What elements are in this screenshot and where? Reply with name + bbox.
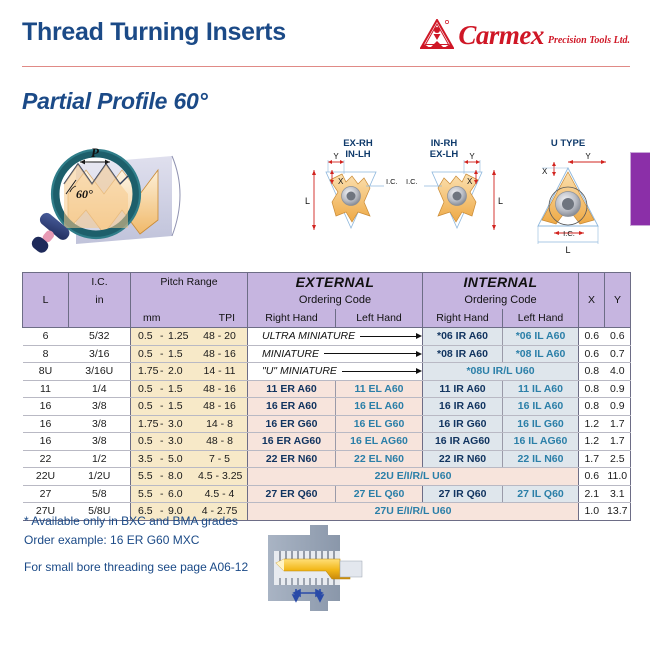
pitch-tpi-from: 48 xyxy=(206,435,218,447)
cell-x: 1.7 xyxy=(579,450,605,468)
u-type-label: U TYPE xyxy=(551,138,585,149)
cell-pitch-range: 3.5-5.07 - 5 xyxy=(131,450,248,468)
cell-pitch-range: 5.5-6.04.5 - 4 xyxy=(131,485,248,503)
cell-code-fullspan: 22U E/I/R/L U60 xyxy=(248,468,579,486)
cell-x: 0.8 xyxy=(579,398,605,416)
col-header-x: X xyxy=(579,273,605,328)
cell-x: 0.6 xyxy=(579,345,605,363)
insert-geometry-diagrams: EX-RH IN-LH Y X L I.C. IN-RH EX-LH xyxy=(292,132,630,262)
cell-internal-lh: *06 IL A60 xyxy=(503,328,579,346)
pitch-mm-label: mm xyxy=(143,312,161,324)
table-row: 8U3/16U1.75-2.014 - 11"U" MINIATURE*08U … xyxy=(23,363,631,381)
svg-text:Y: Y xyxy=(333,152,339,161)
pitch-mm-to: 3.0 xyxy=(168,418,198,430)
pitch-tpi-to: 11 xyxy=(225,365,236,377)
cell-l: 22U xyxy=(23,468,69,486)
cell-l: 11 xyxy=(23,380,69,398)
cell-y: 3.1 xyxy=(605,485,631,503)
cell-internal-rh: 27 IR Q60 xyxy=(423,485,503,503)
cell-internal-lh: 16 IL A60 xyxy=(503,398,579,416)
table-row: 275/85.5-6.04.5 - 427 ER Q6027 EL Q6027 … xyxy=(23,485,631,503)
in-lh-label: IN-LH xyxy=(345,149,370,160)
arrow-right-icon xyxy=(416,351,422,357)
pitch-mm-from: 0.5 xyxy=(138,383,160,395)
svg-text:L: L xyxy=(565,245,570,255)
col-header-internal: INTERNAL xyxy=(423,273,579,292)
cell-internal-rh: 11 IR A60 xyxy=(423,380,503,398)
pitch-tpi-to: 16 xyxy=(224,383,236,395)
page-title: Thread Turning Inserts xyxy=(22,18,286,47)
pitch-tpi-from: 14 xyxy=(204,365,216,377)
arrow-right-icon xyxy=(416,333,422,339)
pitch-tpi-to: 20 xyxy=(224,330,236,342)
spec-table-body: 65/320.5-1.2548 - 20ULTRA MINIATURE*06 I… xyxy=(23,328,631,521)
cell-internal-lh: 16 IL G60 xyxy=(503,415,579,433)
col-header-y: Y xyxy=(605,273,631,328)
pitch-tpi-from: 48 xyxy=(203,348,215,360)
cell-internal-rh: 16 IR A60 xyxy=(423,398,503,416)
internal-threading-tool-illustration xyxy=(266,521,388,616)
pitch-mm-from: 3.5 xyxy=(138,453,160,465)
col-header-ic-blank xyxy=(69,309,131,328)
cell-l: 6 xyxy=(23,328,69,346)
pitch-mm-from: 1.75 xyxy=(138,418,160,430)
table-row: 22U1/2U5.5-8.04.5 - 3.2522U E/I/R/L U600… xyxy=(23,468,631,486)
cell-internal-rh: 16 IR G60 xyxy=(423,415,503,433)
pitch-tpi-from: 4.5 xyxy=(205,488,220,500)
cell-external-rh: 16 ER A60 xyxy=(248,398,336,416)
table-row: 163/80.5-1.548 - 1616 ER A6016 EL A6016 … xyxy=(23,398,631,416)
cell-ic: 3/8 xyxy=(69,398,131,416)
pitch-mm-from: 0.5 xyxy=(138,330,160,342)
col-header-l: L xyxy=(23,273,69,328)
col-header-internal-ordering: Ordering Code xyxy=(423,291,579,309)
col-header-ic-unit: in xyxy=(69,291,131,309)
cell-y: 4.0 xyxy=(605,363,631,381)
cell-external-lh: 16 EL AG60 xyxy=(336,433,423,451)
pitch-tpi-to: 16 xyxy=(224,348,236,360)
cell-y: 0.7 xyxy=(605,345,631,363)
pitch-mm-to: 8.0 xyxy=(168,470,198,482)
pitch-mm-to: 2.0 xyxy=(168,365,198,377)
cell-l: 22 xyxy=(23,450,69,468)
pitch-mm-to: 1.25 xyxy=(168,330,198,342)
pitch-tpi-from: 14 xyxy=(206,418,218,430)
external-group-label: ULTRA MINIATURE xyxy=(255,330,355,342)
external-group-label: MINIATURE xyxy=(255,348,319,360)
cell-pitch-range: 5.5-8.04.5 - 3.25 xyxy=(131,468,248,486)
in-rh-label: IN-RH xyxy=(431,138,458,149)
cell-internal-lh: 27 IL Q60 xyxy=(503,485,579,503)
pitch-mm-to: 3.0 xyxy=(168,435,198,447)
cell-pitch-range: 1.75-3.014 - 8 xyxy=(131,415,248,433)
pitch-mm-to: 1.5 xyxy=(168,348,198,360)
cell-external-rh: 16 ER G60 xyxy=(248,415,336,433)
page-header: Thread Turning Inserts Carmex Precision … xyxy=(22,18,630,70)
pitch-tpi-from: 48 xyxy=(203,400,215,412)
insert-spec-table: L I.C. Pitch Range EXTERNAL INTERNAL X Y… xyxy=(22,272,631,521)
cell-internal-rh: *08 IR A60 xyxy=(423,345,503,363)
cell-y: 1.7 xyxy=(605,433,631,451)
svg-text:L: L xyxy=(305,196,310,206)
svg-text:L: L xyxy=(498,196,503,206)
carmex-triangle-logo-icon xyxy=(420,19,454,49)
cell-x: 1.2 xyxy=(579,415,605,433)
cell-x: 0.6 xyxy=(579,468,605,486)
cell-l: 16 xyxy=(23,433,69,451)
cell-external-rh: 22 ER N60 xyxy=(248,450,336,468)
cell-internal-rh: 16 IR AG60 xyxy=(423,433,503,451)
svg-text:60°: 60° xyxy=(76,187,93,201)
svg-text:X: X xyxy=(542,167,548,176)
pitch-tpi-to: 4 xyxy=(229,488,235,500)
col-header-pitch-units: mm TPI xyxy=(131,309,248,328)
cell-ic: 1/2 xyxy=(69,450,131,468)
cell-y: 13.7 xyxy=(605,503,631,521)
cell-x: 0.8 xyxy=(579,363,605,381)
cell-internal-rh: *06 IR A60 xyxy=(423,328,503,346)
table-row: 163/80.5-3.048 - 816 ER AG6016 EL AG6016… xyxy=(23,433,631,451)
cell-y: 1.7 xyxy=(605,415,631,433)
col-header-pitch-spacer xyxy=(131,291,248,309)
table-row: 83/160.5-1.548 - 16MINIATURE*08 IR A60*0… xyxy=(23,345,631,363)
pitch-mm-to: 1.5 xyxy=(168,400,198,412)
arrow-right-icon xyxy=(416,368,422,374)
pitch-mm-from: 1.75 xyxy=(138,365,160,377)
pitch-tpi-to: 3.25 xyxy=(222,470,242,482)
cell-x: 1.0 xyxy=(579,503,605,521)
pitch-tpi-from: 48 xyxy=(203,383,215,395)
carmex-logo: Carmex Precision Tools Ltd. xyxy=(420,19,630,49)
cell-l: 16 xyxy=(23,398,69,416)
cell-l: 8U xyxy=(23,363,69,381)
col-header-external-ordering: Ordering Code xyxy=(248,291,423,309)
logo-wordmark: Carmex xyxy=(458,23,544,49)
thread-profile-magnifier-illustration: P 60° xyxy=(24,132,224,262)
cell-x: 0.6 xyxy=(579,328,605,346)
cell-external-lh: 16 EL G60 xyxy=(336,415,423,433)
cell-y: 11.0 xyxy=(605,468,631,486)
cell-l: 16 xyxy=(23,415,69,433)
cell-internal-lh: 22 IL N60 xyxy=(503,450,579,468)
cell-ic: 5/32 xyxy=(69,328,131,346)
svg-text:Y: Y xyxy=(469,152,475,161)
external-group-label: "U" MINIATURE xyxy=(255,365,337,377)
cell-x: 1.2 xyxy=(579,433,605,451)
ex-rh-label: EX-RH xyxy=(343,138,373,149)
section-subtitle: Partial Profile 60° xyxy=(22,88,208,115)
col-header-external: EXTERNAL xyxy=(248,273,423,292)
pitch-tpi-to: 16 xyxy=(224,400,236,412)
pitch-tpi-to: 8 xyxy=(227,418,233,430)
cell-ic: 1/4 xyxy=(69,380,131,398)
cell-external-lh: 22 EL N60 xyxy=(336,450,423,468)
table-row: 111/40.5-1.548 - 1611 ER A6011 EL A6011 … xyxy=(23,380,631,398)
col-header-ext-rh: Right Hand xyxy=(248,309,336,328)
cell-external-rh: 11 ER A60 xyxy=(248,380,336,398)
cell-ic: 5/8 xyxy=(69,485,131,503)
cell-pitch-range: 0.5-1.2548 - 20 xyxy=(131,328,248,346)
col-header-int-rh: Right Hand xyxy=(423,309,503,328)
svg-text:I.C.: I.C. xyxy=(563,229,575,238)
cell-external-lh: 27 EL Q60 xyxy=(336,485,423,503)
pitch-tpi-from: 48 xyxy=(203,330,215,342)
col-header-ext-lh: Left Hand xyxy=(336,309,423,328)
svg-text:I.C.: I.C. xyxy=(406,177,418,186)
col-header-int-lh: Left Hand xyxy=(503,309,579,328)
table-row: 65/320.5-1.2548 - 20ULTRA MINIATURE*06 I… xyxy=(23,328,631,346)
cell-ic: 3/8 xyxy=(69,433,131,451)
pitch-mm-from: 5.5 xyxy=(138,470,160,482)
header-divider xyxy=(22,66,630,67)
cell-external-label: "U" MINIATURE xyxy=(248,363,423,381)
pitch-mm-from: 5.5 xyxy=(138,488,160,500)
table-row: 163/81.75-3.014 - 816 ER G6016 EL G6016 … xyxy=(23,415,631,433)
cell-pitch-range: 0.5-1.548 - 16 xyxy=(131,380,248,398)
cell-internal-lh: 11 IL A60 xyxy=(503,380,579,398)
cell-y: 0.6 xyxy=(605,328,631,346)
cell-external-rh: 16 ER AG60 xyxy=(248,433,336,451)
svg-text:I.C.: I.C. xyxy=(386,177,398,186)
cell-l: 8 xyxy=(23,345,69,363)
cell-x: 0.8 xyxy=(579,380,605,398)
pitch-tpi-to: 5 xyxy=(224,453,230,465)
cell-pitch-range: 0.5-3.048 - 8 xyxy=(131,433,248,451)
cell-external-rh: 27 ER Q60 xyxy=(248,485,336,503)
pitch-tpi-label: TPI xyxy=(219,312,235,324)
cell-pitch-range: 0.5-1.548 - 16 xyxy=(131,398,248,416)
pitch-mm-to: 5.0 xyxy=(168,453,198,465)
cell-external-label: ULTRA MINIATURE xyxy=(248,328,423,346)
pitch-mm-from: 0.5 xyxy=(138,348,160,360)
ex-lh-label: EX-LH xyxy=(430,149,459,160)
pitch-tpi-from: 7 xyxy=(209,453,215,465)
svg-text:X: X xyxy=(338,177,344,186)
logo-tagline: Precision Tools Ltd. xyxy=(548,35,630,49)
cell-external-lh: 16 EL A60 xyxy=(336,398,423,416)
pitch-mm-from: 0.5 xyxy=(138,435,160,447)
cell-y: 0.9 xyxy=(605,380,631,398)
cell-ic: 3/16 xyxy=(69,345,131,363)
cell-y: 2.5 xyxy=(605,450,631,468)
cell-pitch-range: 1.75-2.014 - 11 xyxy=(131,363,248,381)
cell-x: 2.1 xyxy=(579,485,605,503)
cell-ic: 3/16U xyxy=(69,363,131,381)
cell-internal-lh: 16 IL AG60 xyxy=(503,433,579,451)
cell-ic: 3/8 xyxy=(69,415,131,433)
cell-internal-lh: *08 IL A60 xyxy=(503,345,579,363)
pitch-tpi-from: 4.5 xyxy=(198,470,213,482)
cell-y: 0.9 xyxy=(605,398,631,416)
cell-external-lh: 11 EL A60 xyxy=(336,380,423,398)
section-side-tab xyxy=(630,152,650,226)
svg-text:P: P xyxy=(91,145,100,160)
pitch-mm-from: 0.5 xyxy=(138,400,160,412)
pitch-mm-to: 1.5 xyxy=(168,383,198,395)
table-row: 221/23.5-5.07 - 522 ER N6022 EL N6022 IR… xyxy=(23,450,631,468)
cell-l: 27 xyxy=(23,485,69,503)
svg-text:X: X xyxy=(467,177,473,186)
col-header-pitch-range: Pitch Range xyxy=(131,273,248,292)
pitch-tpi-to: 8 xyxy=(227,435,233,447)
cell-external-label: MINIATURE xyxy=(248,345,423,363)
cell-internal-span: *08U IR/L U60 xyxy=(423,363,579,381)
cell-internal-rh: 22 IR N60 xyxy=(423,450,503,468)
col-header-ic: I.C. xyxy=(69,273,131,292)
svg-text:Y: Y xyxy=(585,152,591,161)
cell-pitch-range: 0.5-1.548 - 16 xyxy=(131,345,248,363)
cell-ic: 1/2U xyxy=(69,468,131,486)
pitch-mm-to: 6.0 xyxy=(168,488,198,500)
